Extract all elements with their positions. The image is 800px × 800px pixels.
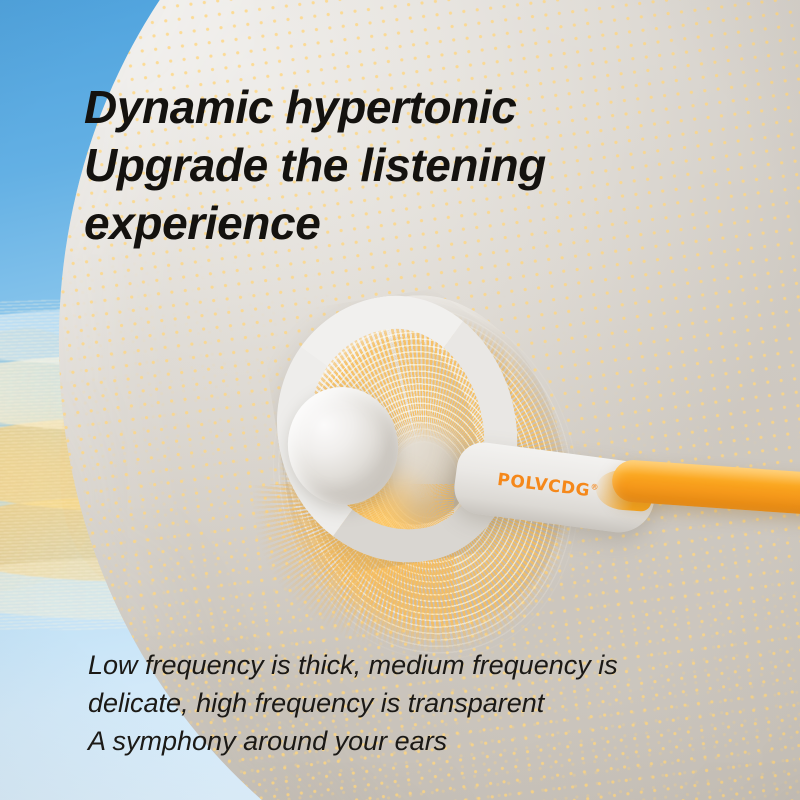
subtext-line-2: delicate, high frequency is transparent — [88, 684, 778, 722]
page-title: Dynamic hypertonic Upgrade the listening… — [84, 78, 724, 252]
promo-poster: POLVCDG® Dynamic hypertonic Upgrade the … — [0, 0, 800, 800]
headline-line-3: experience — [84, 194, 724, 252]
ear-glow-secondary — [298, 422, 376, 500]
subtext-line-3: A symphony around your ears — [88, 722, 778, 760]
ear-illustration — [238, 272, 610, 672]
headline-line-1: Dynamic hypertonic — [84, 78, 724, 136]
description-text: Low frequency is thick, medium frequency… — [88, 646, 778, 760]
headline-line-2: Upgrade the listening — [84, 136, 724, 194]
subtext-line-1: Low frequency is thick, medium frequency… — [88, 646, 778, 684]
